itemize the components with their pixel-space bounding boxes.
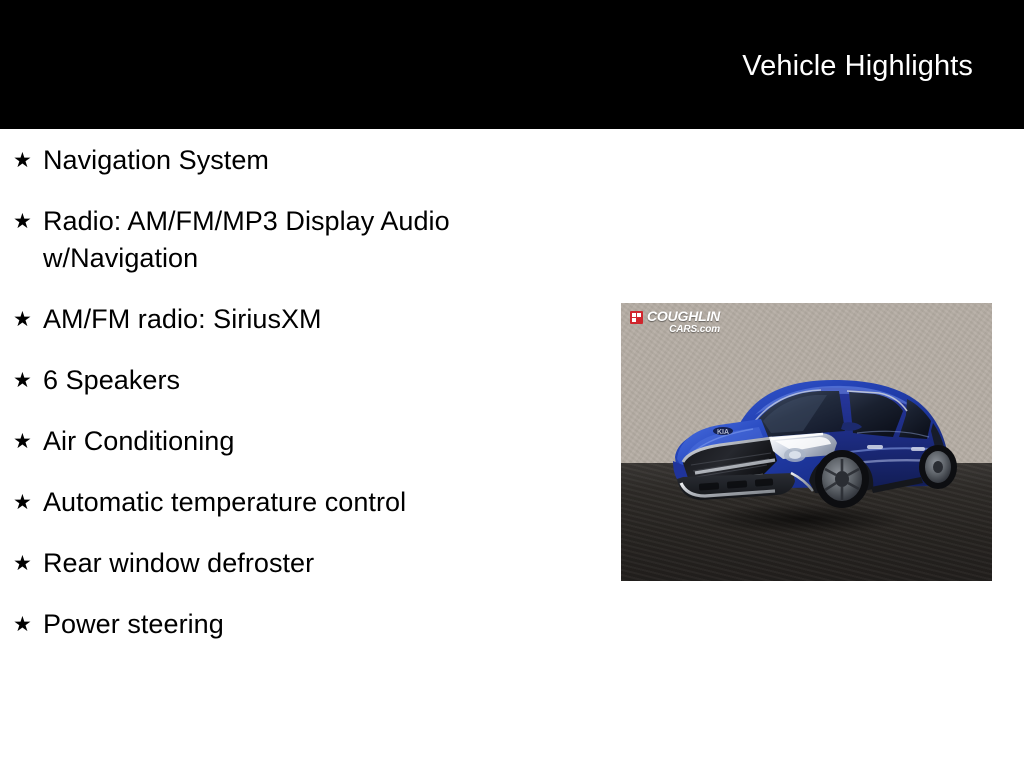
page-title: Vehicle Highlights	[742, 50, 973, 82]
star-bullet-icon: ★	[13, 484, 43, 521]
list-item: ★ AM/FM radio: SiriusXM	[0, 301, 600, 338]
highlight-label: 6 Speakers	[43, 362, 513, 399]
dealer-domain-main: CARS	[669, 324, 697, 335]
highlight-label: Automatic temperature control	[43, 484, 513, 521]
list-item: ★ Power steering	[0, 606, 600, 643]
vehicle-highlights-list: ★ Navigation System ★ Radio: AM/FM/MP3 D…	[0, 142, 600, 667]
star-bullet-icon: ★	[13, 606, 43, 643]
list-item: ★ Navigation System	[0, 142, 600, 179]
highlight-label: Navigation System	[43, 142, 513, 179]
star-bullet-icon: ★	[13, 362, 43, 399]
star-bullet-icon: ★	[13, 301, 43, 338]
highlight-label: AM/FM radio: SiriusXM	[43, 301, 513, 338]
highlight-label: Rear window defroster	[43, 545, 513, 582]
list-item: ★ 6 Speakers	[0, 362, 600, 399]
highlight-label: Air Conditioning	[43, 423, 513, 460]
vehicle-photo: KIA	[621, 303, 992, 581]
star-bullet-icon: ★	[13, 203, 43, 240]
star-bullet-icon: ★	[13, 545, 43, 582]
list-item: ★ Automatic temperature control	[0, 484, 600, 521]
svg-text:KIA: KIA	[717, 429, 729, 436]
dealer-brand-name: COUGHLIN	[647, 309, 720, 323]
header-bar: Vehicle Highlights	[0, 0, 1024, 129]
list-item: ★ Rear window defroster	[0, 545, 600, 582]
star-bullet-icon: ★	[13, 142, 43, 179]
dealer-watermark-text: COUGHLIN CARS.com	[647, 309, 720, 335]
vehicle-highlights-slide: Vehicle Highlights ★ Navigation System ★…	[0, 0, 1024, 768]
list-item: ★ Air Conditioning	[0, 423, 600, 460]
star-bullet-icon: ★	[13, 423, 43, 460]
coughlin-flag-badge-icon	[630, 311, 643, 324]
highlight-label: Radio: AM/FM/MP3 Display Audio w/Navigat…	[43, 203, 513, 277]
dealer-watermark: COUGHLIN CARS.com	[630, 309, 720, 335]
dealer-domain-tld: .com	[697, 324, 720, 335]
vehicle-illustration: KIA	[643, 361, 973, 523]
dealer-domain: CARS.com	[647, 325, 720, 335]
list-item: ★ Radio: AM/FM/MP3 Display Audio w/Navig…	[0, 203, 600, 277]
highlight-label: Power steering	[43, 606, 513, 643]
